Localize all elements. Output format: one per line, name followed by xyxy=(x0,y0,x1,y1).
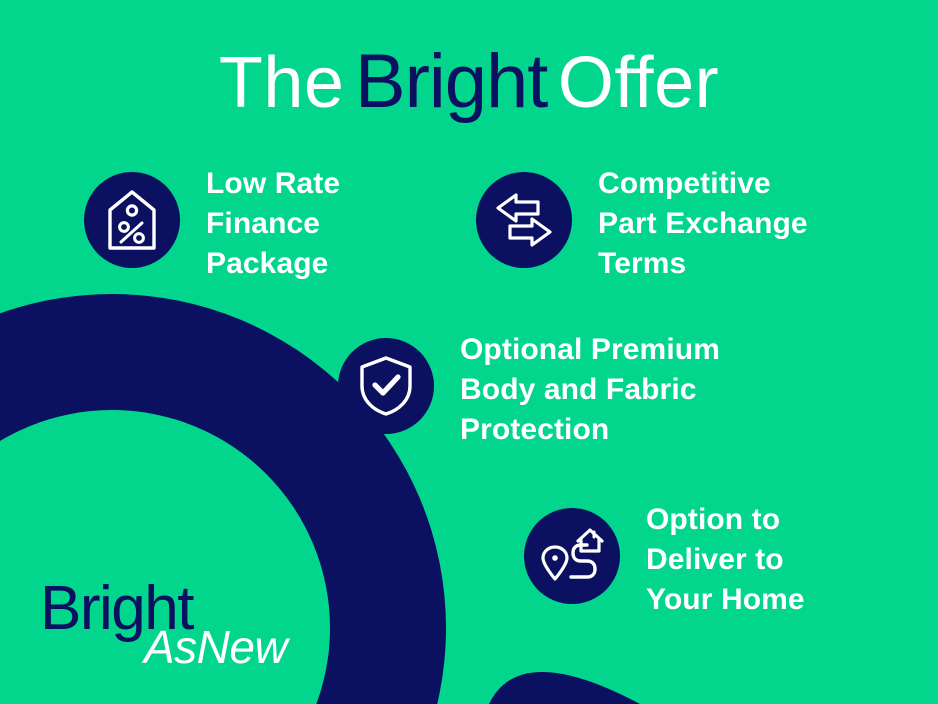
feature-item-part-exchange: Competitive Part Exchange Terms xyxy=(476,164,808,284)
shield-check-icon xyxy=(338,338,434,434)
feature-item-home-delivery: Option to Deliver to Your Home xyxy=(524,500,805,620)
feature-item-low-rate-finance: Low Rate Finance Package xyxy=(84,164,340,284)
feature-label: Low Rate Finance Package xyxy=(206,164,340,284)
title-word-the: The xyxy=(219,43,345,123)
logo-secondary-text: AsNew xyxy=(144,624,287,670)
feature-label: Optional Premium Body and Fabric Protect… xyxy=(460,330,720,450)
bright-offer-poster: The Bright Offer Low Rate Finance Packag… xyxy=(0,0,938,704)
feature-label: Competitive Part Exchange Terms xyxy=(598,164,808,284)
exchange-arrows-icon xyxy=(476,172,572,268)
title-word-offer: Offer xyxy=(558,43,719,123)
decorative-wedge-shape xyxy=(489,672,640,704)
brand-logo: Bright AsNew xyxy=(40,578,287,670)
delivery-route-home-icon xyxy=(524,508,620,604)
feature-item-body-fabric-protection: Optional Premium Body and Fabric Protect… xyxy=(338,330,720,450)
feature-label: Option to Deliver to Your Home xyxy=(646,500,805,620)
price-tag-percent-icon xyxy=(84,172,180,268)
page-title: The Bright Offer xyxy=(0,44,938,120)
title-brand-bright: Bright xyxy=(349,39,554,124)
